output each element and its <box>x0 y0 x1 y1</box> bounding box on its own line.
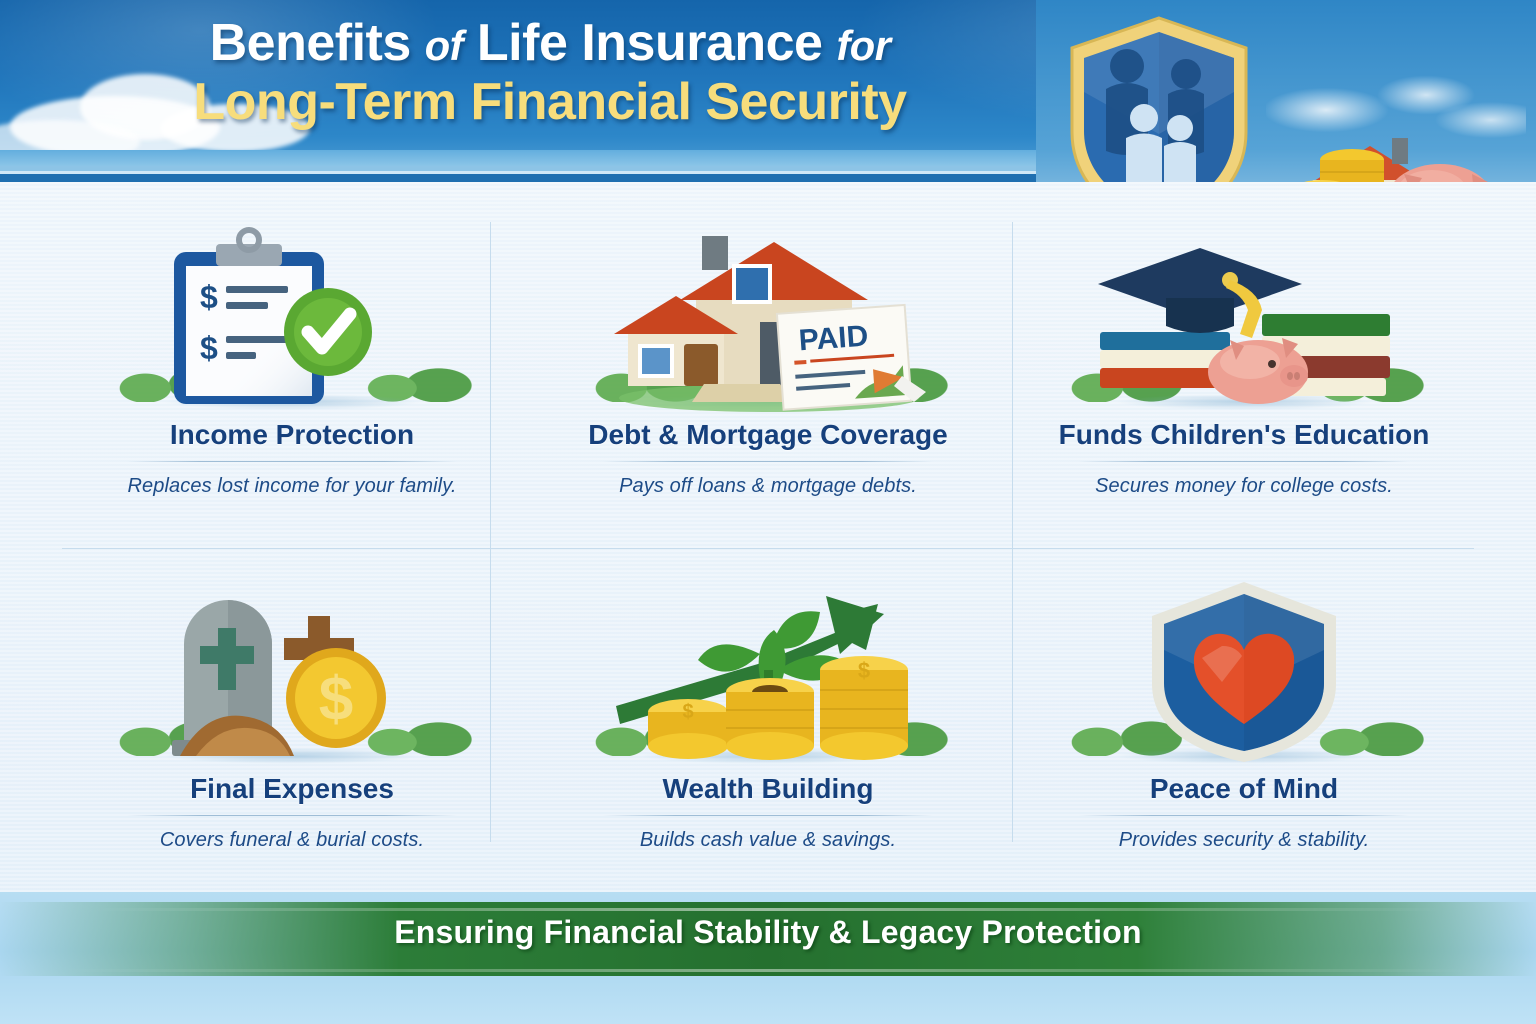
benefit-card-peace-of-mind[interactable]: Peace of Mind Provides security & stabil… <box>1014 574 1474 852</box>
piggy-bank-icon <box>1380 150 1498 182</box>
benefit-illustration: PAID <box>538 220 998 420</box>
shield-heart-icon <box>1144 576 1344 766</box>
benefit-subtitle: Builds cash value & savings. <box>538 829 998 852</box>
title-rule <box>1079 461 1409 462</box>
benefit-title: Debt & Mortgage Coverage <box>538 420 998 451</box>
svg-text:$: $ <box>682 701 693 723</box>
benefits-grid: $ $ Income Protection Replaces lost inco… <box>62 196 1474 868</box>
title-word-benefits: Benefits <box>210 14 411 72</box>
benefit-subtitle: Pays off loans & mortgage debts. <box>538 475 998 498</box>
benefit-illustration: $ $ <box>62 220 522 420</box>
graduation-cap-books-piggy-icon <box>1080 236 1410 416</box>
benefit-title: Funds Children's Education <box>1014 420 1474 451</box>
svg-text:$: $ <box>200 279 218 315</box>
benefit-illustration <box>1014 574 1474 774</box>
benefit-card-debt-mortgage[interactable]: PAID Debt & Mortgage Coverage Pays off l… <box>538 220 998 498</box>
title-rule <box>603 461 933 462</box>
title-word-life-insurance: Life Insurance <box>477 14 823 72</box>
benefit-title: Wealth Building <box>538 774 998 805</box>
benefit-illustration <box>1014 220 1474 420</box>
benefit-illustration: $ <box>62 574 522 774</box>
footer-tagline: Ensuring Financial Stability & Legacy Pr… <box>0 914 1536 951</box>
benefit-title: Final Expenses <box>62 774 522 805</box>
svg-text:PAID: PAID <box>798 320 870 358</box>
title-rule <box>603 815 933 816</box>
title-rule <box>1079 815 1409 816</box>
title-word-of: of <box>425 22 463 69</box>
svg-text:$: $ <box>858 658 870 683</box>
title-rule <box>127 815 457 816</box>
grid-divider-vertical <box>1012 222 1013 842</box>
benefit-card-wealth-building[interactable]: $ $ <box>538 574 998 852</box>
benefit-subtitle: Provides security & stability. <box>1014 829 1474 852</box>
grid-divider-horizontal <box>62 548 1474 549</box>
clipboard-dollar-check-icon: $ $ <box>152 228 432 414</box>
benefit-card-final-expenses[interactable]: $ Final Expenses Covers funeral & burial… <box>62 574 522 852</box>
benefit-illustration: $ $ <box>538 574 998 774</box>
benefit-card-income-protection[interactable]: $ $ Income Protection Replaces lost inco… <box>62 220 522 498</box>
benefit-subtitle: Replaces lost income for your family. <box>62 475 522 498</box>
coins-plant-growth-arrow-icon: $ $ <box>610 578 930 768</box>
title-line-1: Benefits of Life Insurance for <box>60 14 1040 72</box>
infographic-page: Benefits of Life Insurance for Long-Term… <box>0 0 1536 1024</box>
benefit-card-education[interactable]: Funds Children's Education Secures money… <box>1014 220 1474 498</box>
header-banner: Benefits of Life Insurance for Long-Term… <box>0 0 1536 182</box>
benefit-title: Peace of Mind <box>1014 774 1474 805</box>
hero-illustration <box>1036 0 1536 182</box>
benefit-title: Income Protection <box>62 420 522 451</box>
house-paid-document-icon: PAID <box>584 226 954 416</box>
shield-family-icon <box>1064 14 1254 182</box>
banner-highlight-bottom <box>61 969 1474 972</box>
banner-highlight-top <box>92 908 1444 911</box>
svg-text:$: $ <box>319 665 353 734</box>
gravestone-coin-icon: $ <box>144 580 444 766</box>
title-word-for: for <box>836 22 890 69</box>
page-title: Benefits of Life Insurance for Long-Term… <box>60 14 1040 134</box>
title-rule <box>127 461 457 462</box>
svg-text:$: $ <box>200 330 218 366</box>
benefit-subtitle: Secures money for college costs. <box>1014 475 1474 498</box>
title-line-2: Long-Term Financial Security <box>60 72 1040 133</box>
benefit-subtitle: Covers funeral & burial costs. <box>62 829 522 852</box>
hero-clouds <box>1266 60 1526 150</box>
